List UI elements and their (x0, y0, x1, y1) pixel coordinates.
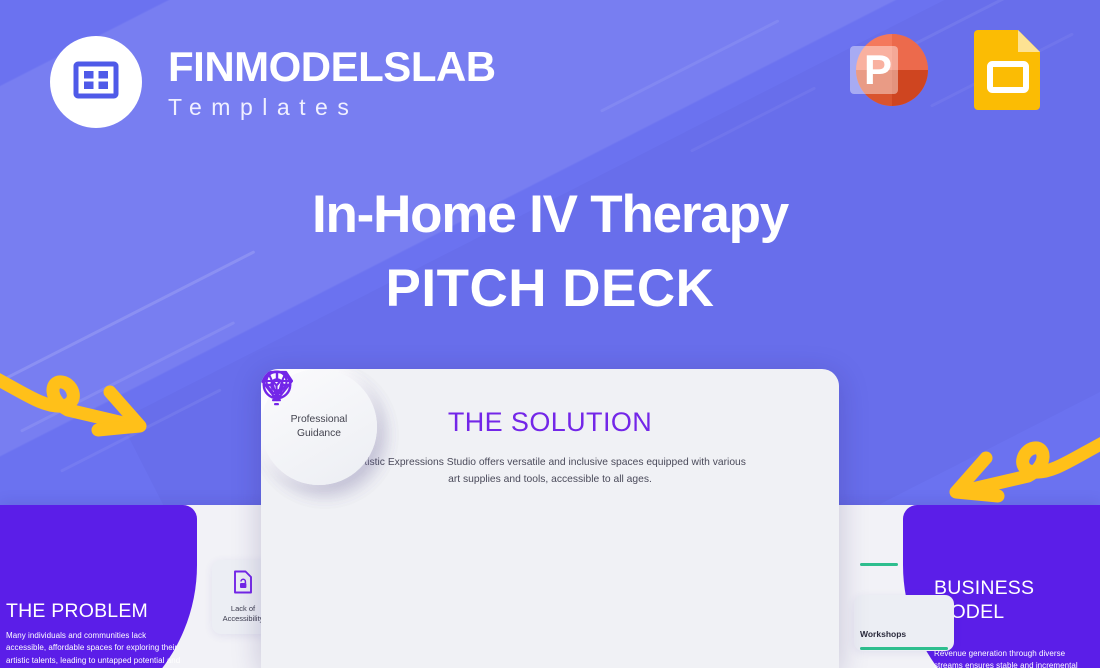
slide-preview-business[interactable]: BUSINESS MODEL Revenue generation throug… (830, 505, 1100, 668)
slide-preview-problem[interactable]: THE PROBLEM Many individuals and communi… (0, 505, 270, 668)
hero-title-block: In-Home IV Therapy PITCH DECK (0, 185, 1100, 319)
squiggly-arrow-right-icon (0, 352, 180, 452)
accent-line-1 (860, 563, 898, 566)
chip-label-line1: Lack of (231, 604, 255, 613)
problem-chip-label: Lack of Accessibility (223, 604, 264, 624)
page-header: FINMODELSLAB Templates P (0, 0, 1100, 150)
feature-3-label: Professional Guidance (291, 413, 348, 441)
brand-logo-circle (50, 36, 142, 128)
brand-subtitle: Templates (168, 96, 496, 119)
squiggly-arrow-left-icon (916, 418, 1100, 518)
feature-3-line1: Professional (291, 414, 348, 425)
solution-description: Artistic Expressions Studio offers versa… (347, 455, 753, 488)
accent-line-2 (860, 647, 948, 650)
brand-text: FINMODELSLAB Templates (168, 46, 496, 119)
brand-lockup: FINMODELSLAB Templates (50, 36, 496, 128)
google-slides-icon (960, 20, 1056, 116)
problem-title: THE PROBLEM (6, 600, 148, 624)
business-chip-label: Workshops (860, 629, 906, 639)
slide-preview-solution[interactable]: THE SOLUTION Artistic Expressions Studio… (261, 369, 839, 668)
app-format-icons: P (838, 20, 1056, 116)
diamond-icon (261, 369, 293, 408)
chip-label-line2: Accessibility (223, 614, 264, 623)
brand-name: FINMODELSLAB (168, 46, 496, 88)
problem-body: Many individuals and communities lack ac… (6, 630, 182, 667)
grid-squares-icon (72, 56, 120, 109)
business-body: Revenue generation through diverse strea… (934, 648, 1094, 668)
feature-3-line2: Guidance (297, 428, 341, 439)
page-subtitle: PITCH DECK (0, 259, 1100, 318)
business-chip-workshops[interactable] (854, 595, 954, 651)
business-title: BUSINESS MODEL (934, 577, 1094, 625)
svg-text:P: P (864, 46, 892, 93)
page-title: In-Home IV Therapy (0, 185, 1100, 244)
document-lock-icon (233, 570, 253, 599)
powerpoint-icon: P (838, 20, 934, 116)
